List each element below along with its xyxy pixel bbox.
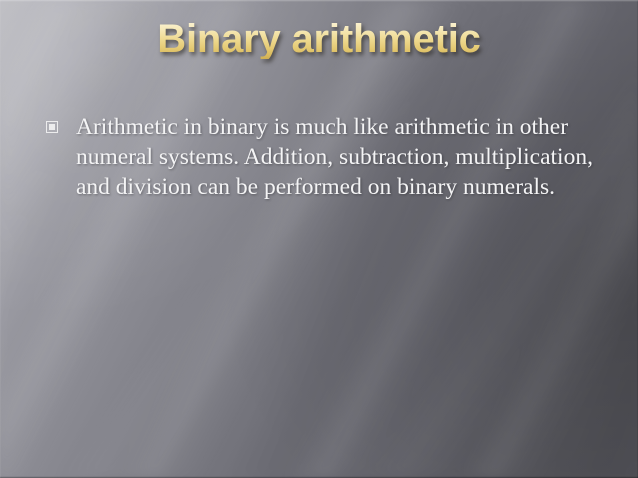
list-item: Arithmetic in binary is much like arithm… xyxy=(46,112,598,202)
slide-body-content: Arithmetic in binary is much like arithm… xyxy=(46,112,598,202)
background-vignette xyxy=(0,0,638,478)
presentation-slide: Binary arithmetic Arithmetic in binary i… xyxy=(0,0,638,478)
page-title: Binary arithmetic xyxy=(157,19,480,59)
list-item-text: Arithmetic in binary is much like arithm… xyxy=(76,112,598,202)
slide-title-area: Binary arithmetic xyxy=(0,8,638,70)
background-highlight-sweep xyxy=(0,0,638,478)
background-light-streaks xyxy=(0,0,638,478)
square-bullet-icon xyxy=(46,121,58,133)
slide-border xyxy=(0,0,638,478)
